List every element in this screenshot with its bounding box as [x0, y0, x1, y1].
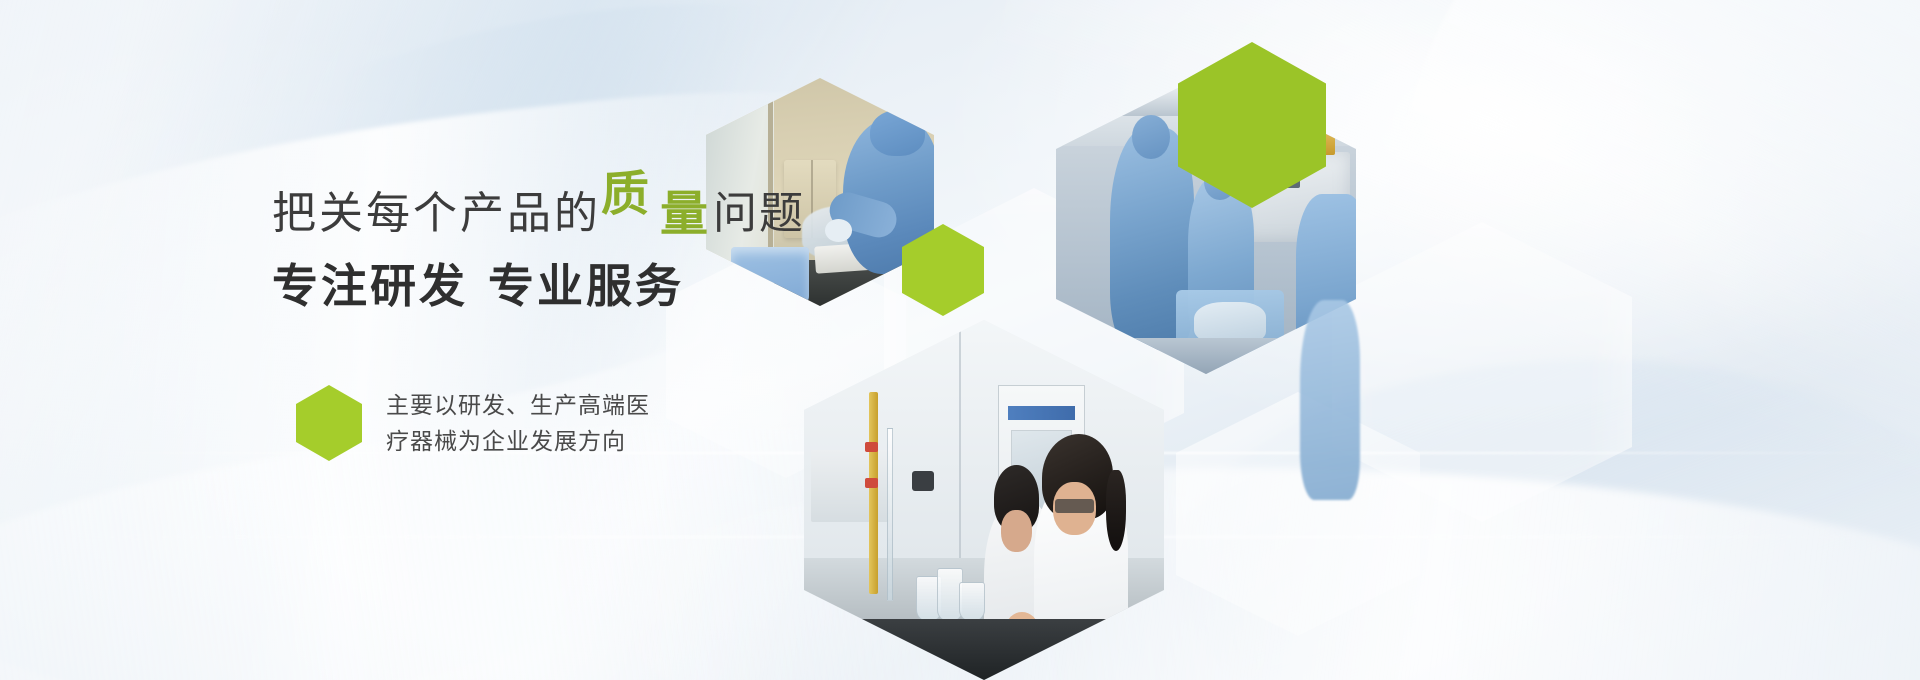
headline-tail-text: 问题 [713, 189, 805, 238]
subtitle-text: 主要以研发、生产高端医 疗器械为企业发展方向 [386, 387, 650, 459]
subtitle-block: 主要以研发、生产高端医 疗器械为企业发展方向 [296, 385, 805, 461]
background-worker-silhouette [1300, 300, 1360, 500]
subtitle-line-1: 主要以研发、生产高端医 [386, 387, 650, 423]
headline-primary: 把关每个产品的质量问题 [272, 186, 805, 241]
headline-highlight-zhi: 质 [601, 168, 650, 222]
headline-secondary-part-1: 专注研发 [272, 260, 468, 312]
headline-lead-text: 把关每个产品的 [272, 189, 601, 238]
hero-banner: 把关每个产品的质量问题 专注研发专业服务 主要以研发、生产高端医 疗器械为企业发… [0, 0, 1920, 680]
headline-highlight-liang: 量 [660, 188, 709, 242]
subtitle-line-2: 疗器械为企业发展方向 [386, 423, 650, 459]
hero-copy: 把关每个产品的质量问题 专注研发专业服务 主要以研发、生产高端医 疗器械为企业发… [272, 186, 805, 461]
hexagon-bullet-icon [296, 385, 362, 461]
headline-secondary: 专注研发专业服务 [272, 257, 805, 315]
headline-secondary-part-2: 专业服务 [488, 260, 684, 312]
